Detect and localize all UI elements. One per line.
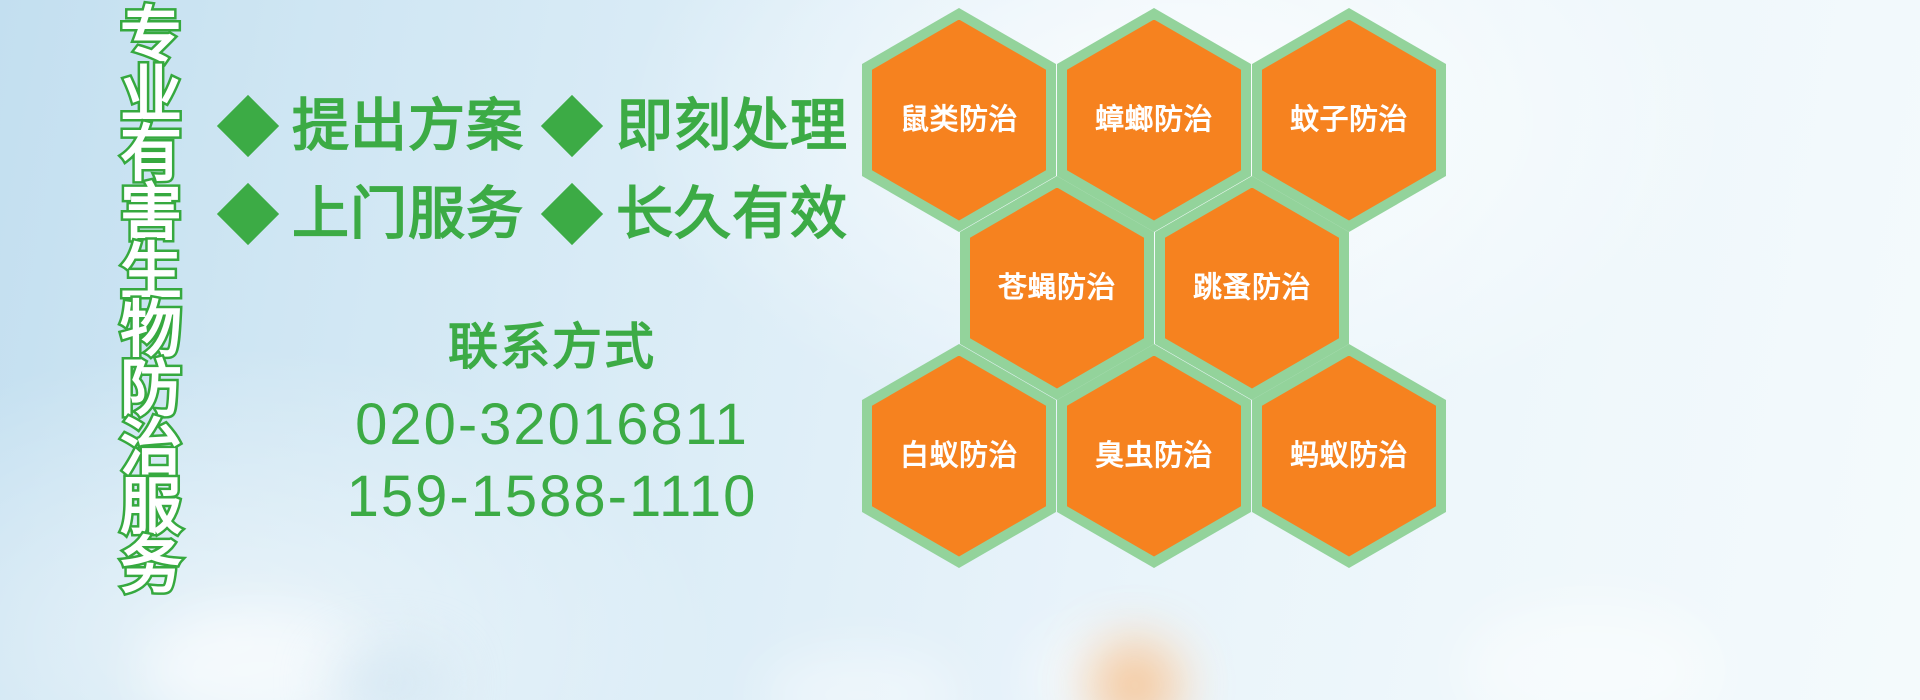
service-hex-label: 臭虫防治 [1095,442,1213,471]
service-hex-inner: 跳蚤防治 [1165,188,1339,389]
service-hex-label: 蚂蚁防治 [1290,442,1408,471]
vertical-headline-char: 物 [120,302,182,361]
vertical-headline: 专 业 有 害 生 物 防 治 服 务 [103,8,199,556]
feature-label: 长久有效 [616,186,848,243]
phone-number-mobile[interactable]: 159-1588-1110 [232,461,872,533]
feature-label: 提出方案 [292,98,524,155]
vertical-headline-char: 务 [120,538,182,597]
service-hex-label: 跳蚤防治 [1193,274,1311,303]
service-hex-label: 蟑螂防治 [1095,106,1213,135]
vertical-headline-char: 业 [120,67,182,126]
vertical-headline-char: 治 [120,420,182,479]
vertical-headline-char: 防 [120,361,182,420]
feature-row: 提出方案 即刻处理 [226,82,866,170]
diamond-icon [541,183,603,245]
feature-row: 上门服务 长久有效 [226,170,866,258]
feature-list: 提出方案 即刻处理 上门服务 长久有效 [226,82,866,258]
feature-label: 即刻处理 [616,98,848,155]
service-hex-label: 鼠类防治 [900,106,1018,135]
contact-title: 联系方式 [232,320,872,375]
feature-item-immediate-handling: 即刻处理 [550,98,848,155]
service-hex-inner: 鼠类防治 [872,20,1046,221]
vertical-headline-char: 害 [120,185,182,244]
vertical-headline-char: 生 [120,244,182,303]
service-hex-label: 苍蝇防治 [998,274,1116,303]
service-hex-inner: 白蚁防治 [872,356,1046,557]
service-honeycomb: 鼠类防治 蟑螂防治 蚊子防治 苍蝇防治 跳蚤防治 白蚁防治 [862,0,1462,560]
bokeh-blob [1460,600,1720,700]
service-hex-inner: 臭虫防治 [1067,356,1241,557]
feature-item-onsite-service: 上门服务 [226,186,524,243]
service-hex-inner: 蚊子防治 [1262,20,1436,221]
diamond-icon [217,95,279,157]
vertical-headline-char: 有 [120,126,182,185]
promo-banner: 专 业 有 害 生 物 防 治 服 务 提出方案 即刻处理 上门服务 [0,0,1920,700]
bokeh-blob [330,648,450,700]
service-hex-inner: 蚂蚁防治 [1262,356,1436,557]
vertical-headline-char: 专 [120,8,182,67]
feature-item-propose-plan: 提出方案 [226,98,524,155]
feature-item-long-lasting: 长久有效 [550,186,848,243]
bokeh-blob [1090,640,1180,700]
diamond-icon [541,95,603,157]
service-hex-label: 白蚁防治 [900,442,1018,471]
bokeh-blob [760,650,960,700]
vertical-headline-char: 服 [120,479,182,538]
diamond-icon [217,183,279,245]
bokeh-blob [1030,624,1200,700]
service-hex-inner: 苍蝇防治 [970,188,1144,389]
feature-label: 上门服务 [292,186,524,243]
service-hex-inner: 蟑螂防治 [1067,20,1241,221]
contact-block: 联系方式 020-32016811 159-1588-1110 [232,320,872,533]
bokeh-blob [140,610,380,700]
phone-number-landline[interactable]: 020-32016811 [232,389,872,461]
service-hex-label: 蚊子防治 [1290,106,1408,135]
